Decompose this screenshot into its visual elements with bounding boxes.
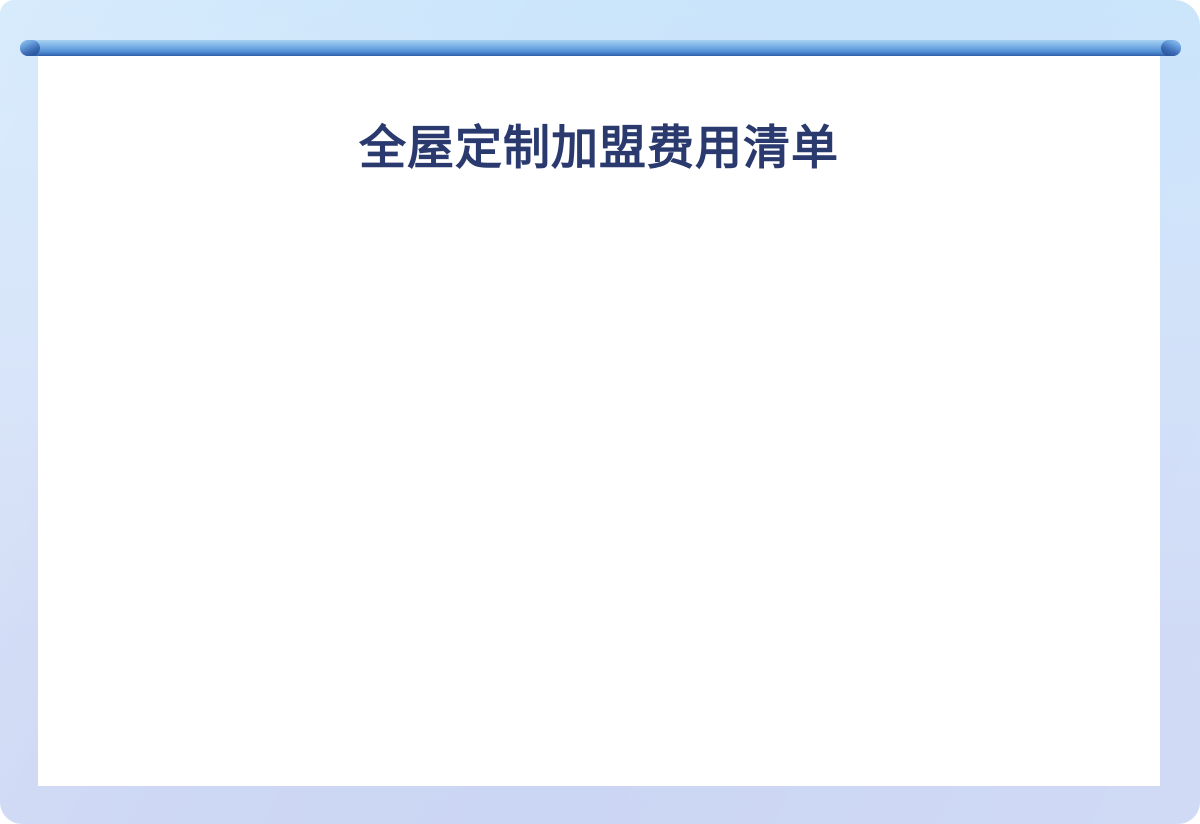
decorative-top-rail xyxy=(20,40,1181,56)
slide-canvas: 全屋定制加盟费用清单 xyxy=(0,0,1200,824)
slide-title: 全屋定制加盟费用清单 xyxy=(38,119,1160,176)
slide-body-content xyxy=(38,170,1160,786)
